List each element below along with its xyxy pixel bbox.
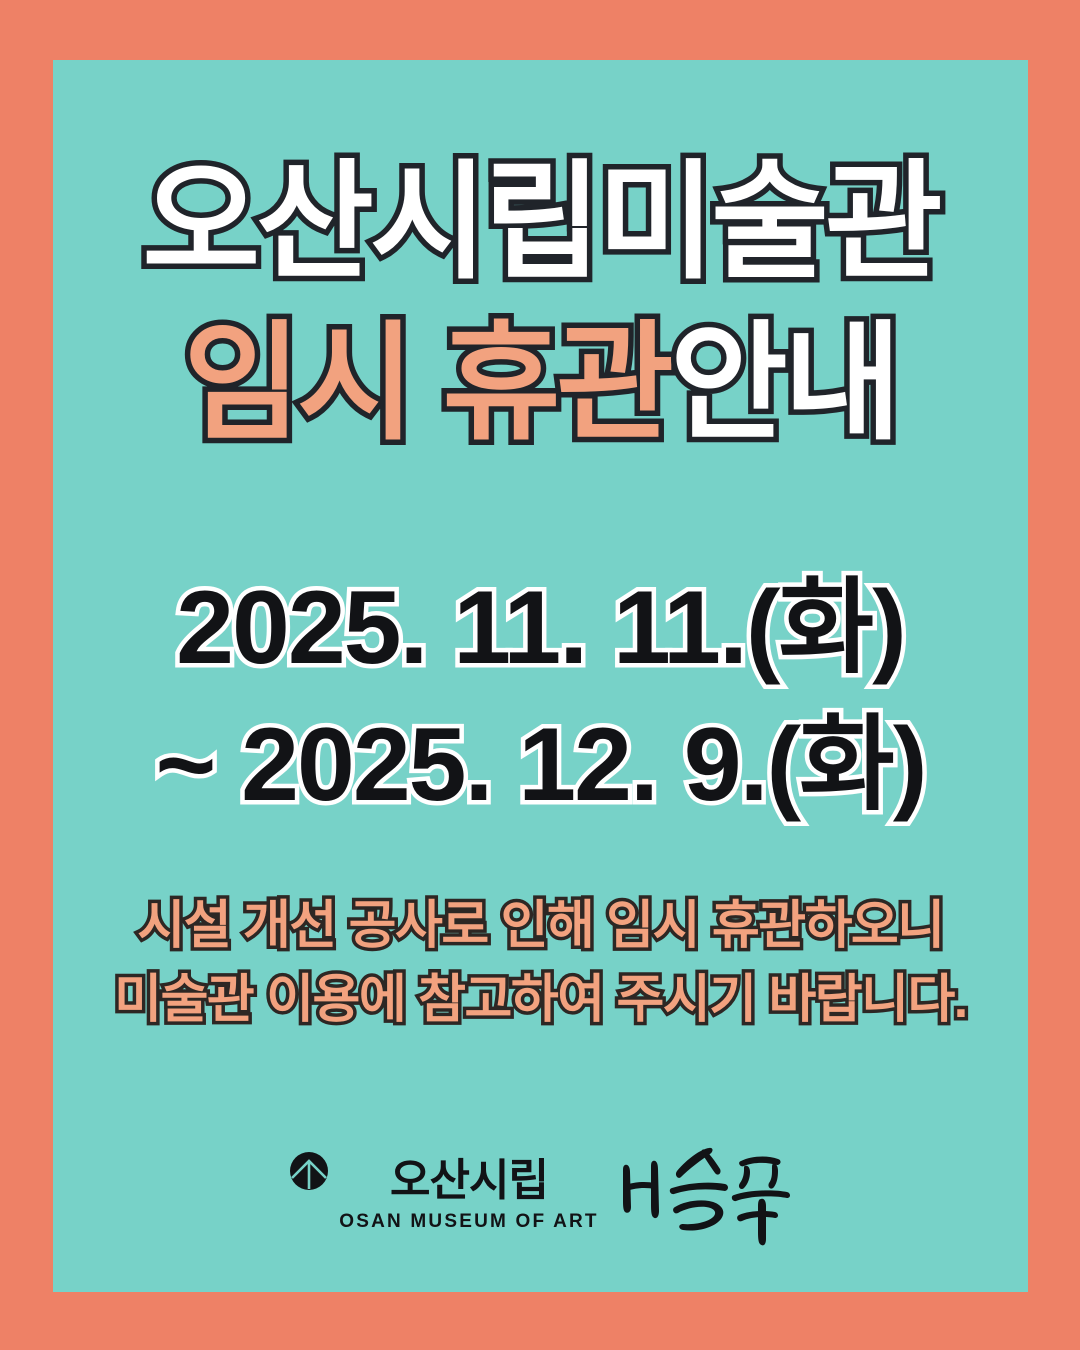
notice-message-line-2: 미술관 이용에 참고하여 주시기 바랍니다. (53, 964, 1028, 1038)
notice-message-line-1: 시설 개선 공사로 인해 임시 휴관하오니 (53, 890, 1028, 964)
headline-segment-temporary-closure: 임시 휴관 (183, 312, 670, 455)
headline-line-notice: 임시 휴관안내 (53, 303, 1028, 464)
logo-brush-calligraphy (617, 1141, 792, 1249)
notice-message-block: 시설 개선 공사로 인해 임시 휴관하오니 미술관 이용에 참고하여 주시기 바… (53, 890, 1028, 1038)
closure-start-date: 2025. 11. 11.(화) (53, 560, 1028, 697)
headline-block: 오산시립미술관 임시 휴관안내 (53, 142, 1028, 465)
logo-english-name: OSAN MUSEUM OF ART (339, 1212, 599, 1231)
museum-logo: 오산시립 OSAN MUSEUM OF ART (53, 1145, 1028, 1249)
logo-korean-name: 오산시립 (390, 1159, 548, 1203)
poster-inner-panel: 오산시립미술관 임시 휴관안내 2025. 11. 11.(화) ~ 2025.… (53, 60, 1028, 1292)
closure-end-date: ~ 2025. 12. 9.(화) (53, 697, 1028, 834)
headline-segment-announcement: 안내 (670, 312, 898, 455)
poster-root: 오산시립미술관 임시 휴관안내 2025. 11. 11.(화) ~ 2025.… (0, 0, 1080, 1350)
logo-text-block: 오산시립 OSAN MUSEUM OF ART (339, 1159, 599, 1231)
mountain-circle-emblem-icon (289, 1151, 329, 1191)
headline-line-museum-name: 오산시립미술관 (53, 142, 1028, 303)
closure-date-block: 2025. 11. 11.(화) ~ 2025. 12. 9.(화) (53, 560, 1028, 835)
